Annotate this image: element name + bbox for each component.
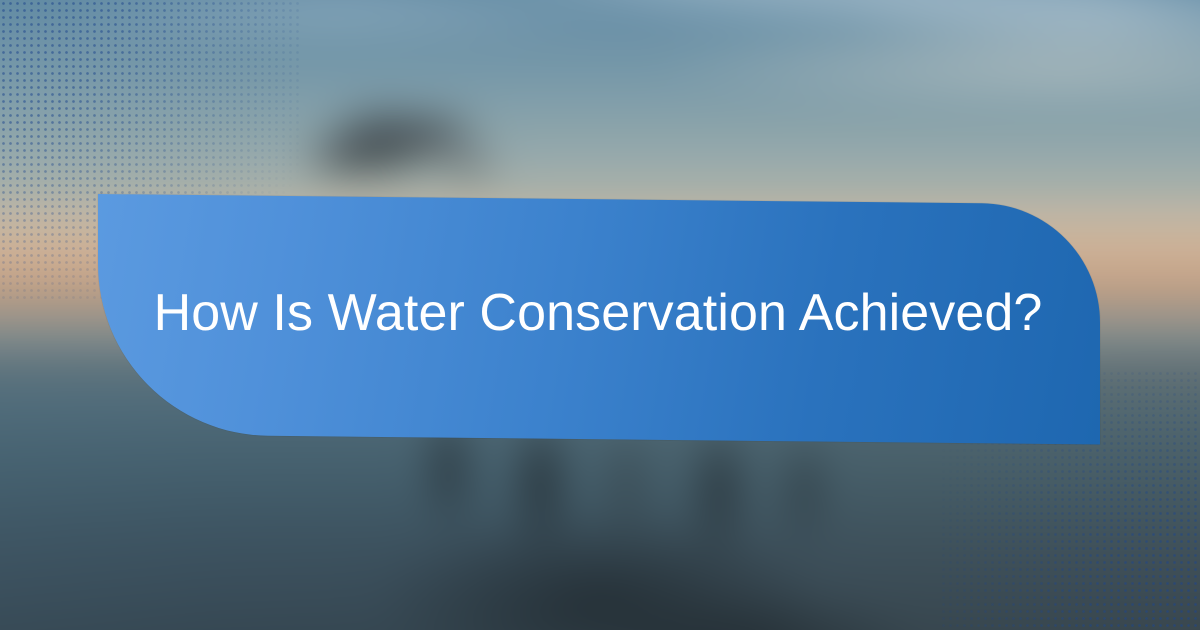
title-banner: How Is Water Conservation Achieved? — [98, 194, 1100, 434]
share-card: How Is Water Conservation Achieved? — [0, 0, 1200, 630]
title-container: How Is Water Conservation Achieved? — [98, 194, 1100, 434]
page-title: How Is Water Conservation Achieved? — [154, 284, 1043, 344]
